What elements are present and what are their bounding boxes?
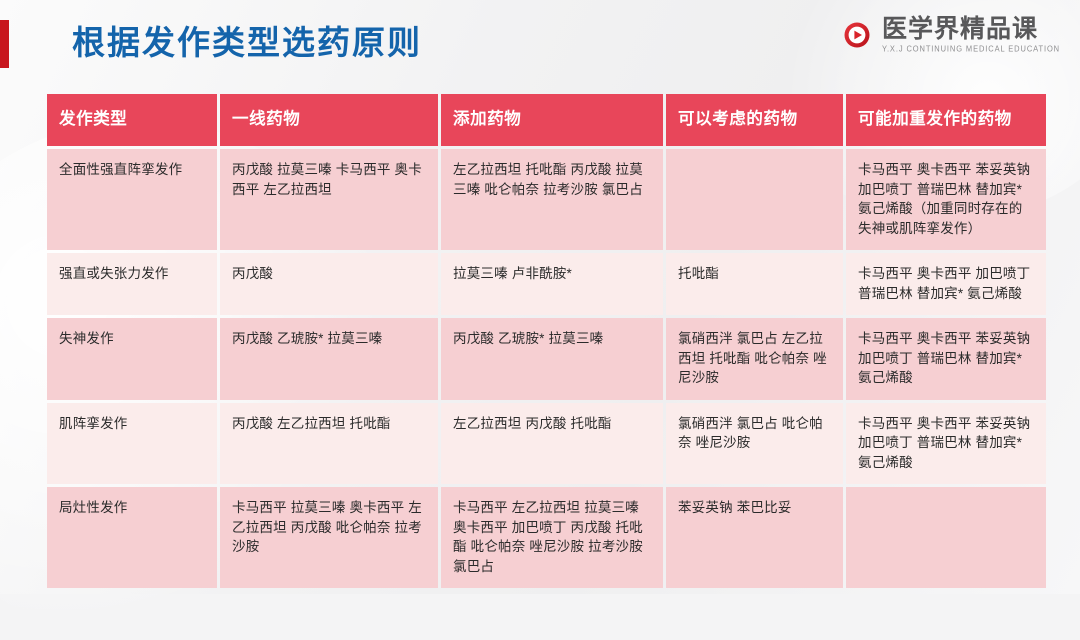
- table-row: 肌阵挛发作 丙戊酸 左乙拉西坦 托吡酯 左乙拉西坦 丙戊酸 托吡酯 氯硝西泮 氯…: [47, 403, 1046, 485]
- table-header-row: 发作类型 一线药物 添加药物 可以考虑的药物 可能加重发作的药物: [47, 94, 1046, 146]
- column-header-may-worsen: 可能加重发作的药物: [846, 94, 1046, 146]
- table-body: 全面性强直阵挛发作 丙戊酸 拉莫三嗪 卡马西平 奥卡西平 左乙拉西坦 左乙拉西坦…: [47, 149, 1046, 588]
- cell-consider: 托吡酯: [666, 253, 843, 315]
- cell-seizure-type: 失神发作: [47, 318, 217, 400]
- logo-en-name: Y.X.J CONTINUING MEDICAL EDUCATION: [882, 42, 1060, 55]
- logo-text: 医学界精品课 Y.X.J CONTINUING MEDICAL EDUCATIO…: [882, 16, 1060, 54]
- table-row: 局灶性发作 卡马西平 拉莫三嗪 奥卡西平 左乙拉西坦 丙戊酸 吡仑帕奈 拉考沙胺…: [47, 487, 1046, 588]
- cell-seizure-type: 全面性强直阵挛发作: [47, 149, 217, 250]
- cell-first-line: 丙戊酸 乙琥胺* 拉莫三嗪: [220, 318, 438, 400]
- cell-may-worsen: 卡马西平 奥卡西平 加巴喷丁 普瑞巴林 替加宾* 氨己烯酸: [846, 253, 1046, 315]
- table-header: 发作类型 一线药物 添加药物 可以考虑的药物 可能加重发作的药物: [47, 94, 1046, 146]
- cell-may-worsen: 卡马西平 奥卡西平 苯妥英钠 加巴喷丁 普瑞巴林 替加宾* 氨己烯酸（加重同时存…: [846, 149, 1046, 250]
- cell-consider: 氯硝西泮 氯巴占 左乙拉西坦 托吡酯 吡仑帕奈 唑尼沙胺: [666, 318, 843, 400]
- cell-first-line: 丙戊酸 拉莫三嗪 卡马西平 奥卡西平 左乙拉西坦: [220, 149, 438, 250]
- cell-first-line: 丙戊酸: [220, 253, 438, 315]
- logo-cn-name: 医学界精品课: [882, 16, 1060, 43]
- cell-seizure-type: 强直或失张力发作: [47, 253, 217, 315]
- brand-logo: 医学界精品课 Y.X.J CONTINUING MEDICAL EDUCATIO…: [831, 14, 1060, 56]
- cell-seizure-type: 肌阵挛发作: [47, 403, 217, 485]
- table-row: 强直或失张力发作 丙戊酸 拉莫三嗪 卢非酰胺* 托吡酯 卡马西平 奥卡西平 加巴…: [47, 253, 1046, 315]
- cell-add-on: 拉莫三嗪 卢非酰胺*: [441, 253, 663, 315]
- title-accent-bar: [0, 20, 9, 68]
- cell-consider: 氯硝西泮 氯巴占 吡仑帕奈 唑尼沙胺: [666, 403, 843, 485]
- circle-c-play-icon: [831, 14, 873, 56]
- cell-add-on: 左乙拉西坦 丙戊酸 托吡酯: [441, 403, 663, 485]
- column-header-seizure-type: 发作类型: [47, 94, 217, 146]
- cell-add-on: 丙戊酸 乙琥胺* 拉莫三嗪: [441, 318, 663, 400]
- cell-may-worsen: [846, 487, 1046, 588]
- cell-seizure-type: 局灶性发作: [47, 487, 217, 588]
- slide: 根据发作类型选药原则 医学界精品课 Y.X.J CONTINUING MEDIC…: [0, 0, 1080, 594]
- cell-add-on: 左乙拉西坦 托吡酯 丙戊酸 拉莫三嗪 吡仑帕奈 拉考沙胺 氯巴占: [441, 149, 663, 250]
- column-header-consider: 可以考虑的药物: [666, 94, 843, 146]
- column-header-add-on: 添加药物: [441, 94, 663, 146]
- cell-may-worsen: 卡马西平 奥卡西平 苯妥英钠 加巴喷丁 普瑞巴林 替加宾* 氨己烯酸: [846, 403, 1046, 485]
- page-title: 根据发作类型选药原则: [72, 18, 422, 68]
- drug-selection-table: 发作类型 一线药物 添加药物 可以考虑的药物 可能加重发作的药物 全面性强直阵挛…: [44, 91, 1049, 591]
- drug-selection-table-container: 发作类型 一线药物 添加药物 可以考虑的药物 可能加重发作的药物 全面性强直阵挛…: [44, 91, 1040, 591]
- cell-add-on: 卡马西平 左乙拉西坦 拉莫三嗪 奥卡西平 加巴喷丁 丙戊酸 托吡酯 吡仑帕奈 唑…: [441, 487, 663, 588]
- cell-first-line: 卡马西平 拉莫三嗪 奥卡西平 左乙拉西坦 丙戊酸 吡仑帕奈 拉考沙胺: [220, 487, 438, 588]
- table-row: 全面性强直阵挛发作 丙戊酸 拉莫三嗪 卡马西平 奥卡西平 左乙拉西坦 左乙拉西坦…: [47, 149, 1046, 250]
- column-header-first-line: 一线药物: [220, 94, 438, 146]
- cell-consider: [666, 149, 843, 250]
- cell-consider: 苯妥英钠 苯巴比妥: [666, 487, 843, 588]
- cell-first-line: 丙戊酸 左乙拉西坦 托吡酯: [220, 403, 438, 485]
- table-row: 失神发作 丙戊酸 乙琥胺* 拉莫三嗪 丙戊酸 乙琥胺* 拉莫三嗪 氯硝西泮 氯巴…: [47, 318, 1046, 400]
- cell-may-worsen: 卡马西平 奥卡西平 苯妥英钠 加巴喷丁 普瑞巴林 替加宾* 氨己烯酸: [846, 318, 1046, 400]
